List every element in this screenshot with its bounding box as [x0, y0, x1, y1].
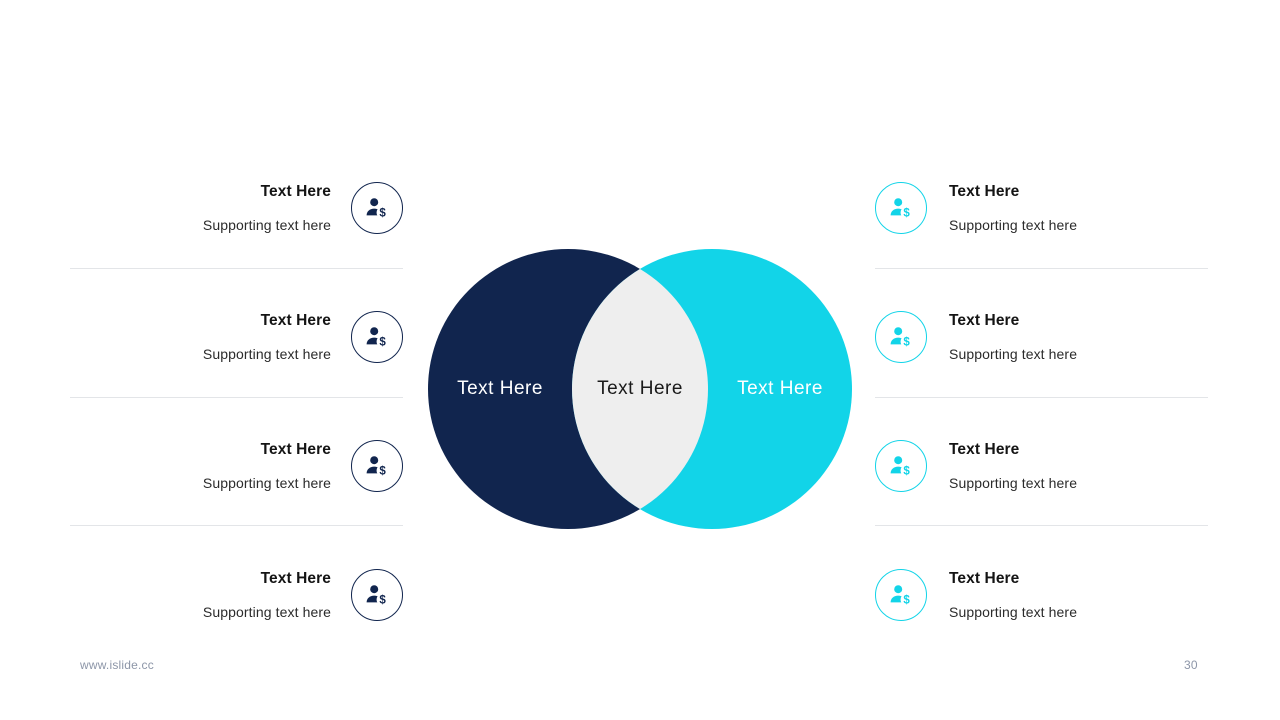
- right-item-4-title: Text Here: [949, 571, 1019, 587]
- divider-right-1: [875, 268, 1208, 269]
- divider-left-2: [70, 397, 403, 398]
- left-item-3-subtitle: Supporting text here: [203, 476, 331, 490]
- right-item-2-subtitle: Supporting text here: [949, 347, 1077, 361]
- right-item-1-subtitle: Supporting text here: [949, 218, 1077, 232]
- person-dollar-icon[interactable]: $: [875, 440, 927, 492]
- left-item-2-title: Text Here: [261, 313, 331, 329]
- left-item-1-title: Text Here: [261, 184, 331, 200]
- svg-text:$: $: [379, 337, 386, 349]
- person-dollar-icon[interactable]: $: [351, 182, 403, 234]
- person-dollar-icon[interactable]: $: [875, 569, 927, 621]
- slide-canvas: Text Here Text Here Text Here Text Here …: [0, 0, 1280, 720]
- list-item-left-4[interactable]: Text Here Supporting text here $: [70, 557, 403, 633]
- person-dollar-icon[interactable]: $: [875, 311, 927, 363]
- divider-right-2: [875, 397, 1208, 398]
- right-item-1-text: Text Here Supporting text here: [949, 184, 1077, 233]
- right-item-3-text: Text Here Supporting text here: [949, 442, 1077, 491]
- right-item-1-title: Text Here: [949, 184, 1019, 200]
- right-item-3-subtitle: Supporting text here: [949, 476, 1077, 490]
- left-item-1-text: Text Here Supporting text here: [203, 184, 331, 233]
- list-item-right-2[interactable]: $ Text Here Supporting text here: [875, 299, 1208, 375]
- venn-label-right: Text Here: [708, 249, 852, 529]
- left-item-4-text: Text Here Supporting text here: [203, 571, 331, 620]
- venn-label-left: Text Here: [428, 249, 572, 529]
- page-number: 30: [1184, 658, 1198, 672]
- left-item-2-subtitle: Supporting text here: [203, 347, 331, 361]
- left-item-4-title: Text Here: [261, 571, 331, 587]
- svg-text:$: $: [379, 208, 386, 220]
- list-item-right-4[interactable]: $ Text Here Supporting text here: [875, 557, 1208, 633]
- left-item-2-text: Text Here Supporting text here: [203, 313, 331, 362]
- divider-left-1: [70, 268, 403, 269]
- list-item-right-1[interactable]: $ Text Here Supporting text here: [875, 170, 1208, 246]
- person-dollar-icon[interactable]: $: [351, 440, 403, 492]
- venn-diagram: Text Here Text Here Text Here: [428, 249, 852, 529]
- svg-text:$: $: [903, 208, 910, 220]
- svg-text:$: $: [903, 337, 910, 349]
- list-item-left-3[interactable]: Text Here Supporting text here $: [70, 428, 403, 504]
- person-dollar-icon[interactable]: $: [875, 182, 927, 234]
- right-item-4-subtitle: Supporting text here: [949, 605, 1077, 619]
- person-dollar-icon[interactable]: $: [351, 569, 403, 621]
- left-item-1-subtitle: Supporting text here: [203, 218, 331, 232]
- divider-right-3: [875, 525, 1208, 526]
- footer-url[interactable]: www.islide.cc: [80, 658, 154, 672]
- svg-text:$: $: [903, 595, 910, 607]
- svg-text:$: $: [379, 595, 386, 607]
- left-item-4-subtitle: Supporting text here: [203, 605, 331, 619]
- svg-text:$: $: [379, 466, 386, 478]
- right-item-2-title: Text Here: [949, 313, 1019, 329]
- right-item-4-text: Text Here Supporting text here: [949, 571, 1077, 620]
- venn-label-center: Text Here: [572, 249, 708, 529]
- person-dollar-icon[interactable]: $: [351, 311, 403, 363]
- divider-left-3: [70, 525, 403, 526]
- list-item-right-3[interactable]: $ Text Here Supporting text here: [875, 428, 1208, 504]
- list-item-left-1[interactable]: Text Here Supporting text here $: [70, 170, 403, 246]
- svg-text:$: $: [903, 466, 910, 478]
- list-item-left-2[interactable]: Text Here Supporting text here $: [70, 299, 403, 375]
- left-item-3-text: Text Here Supporting text here: [203, 442, 331, 491]
- left-item-3-title: Text Here: [261, 442, 331, 458]
- right-item-3-title: Text Here: [949, 442, 1019, 458]
- right-item-2-text: Text Here Supporting text here: [949, 313, 1077, 362]
